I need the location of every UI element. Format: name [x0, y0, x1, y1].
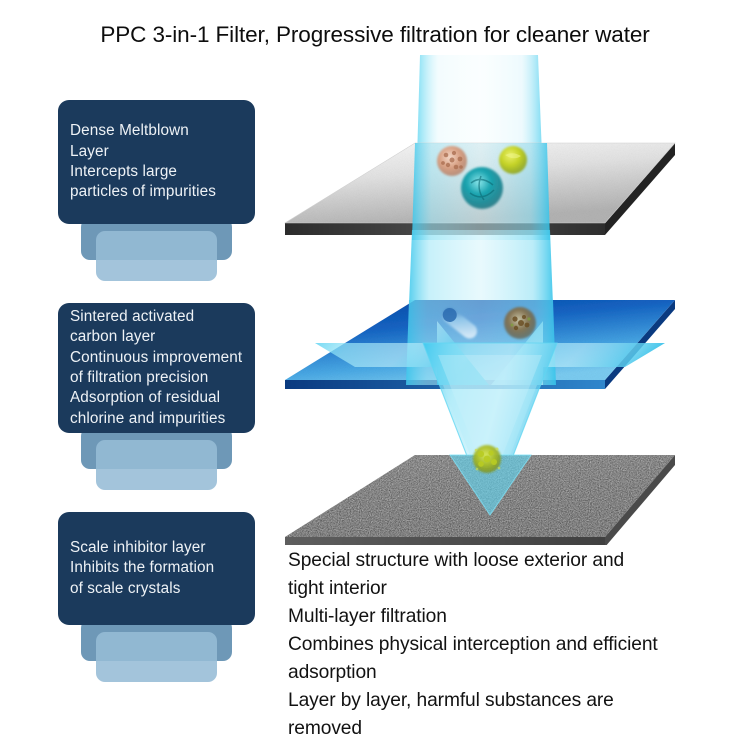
infographic-root: PPC 3-in-1 Filter, Progressive filtratio…: [0, 0, 750, 750]
particle-tan-cluster: [437, 146, 467, 176]
summary-copy: Special structure with loose exterior an…: [288, 547, 738, 743]
card-dense-meltblown-layer[interactable]: Dense Meltblown Layer Intercepts large p…: [58, 100, 255, 224]
particle-olive-cluster: [473, 445, 501, 473]
filter-layer-card-column: Dense Meltblown Layer Intercepts large p…: [0, 0, 300, 750]
card-connector-1: [58, 218, 255, 286]
card-connector-3: [58, 619, 255, 687]
card-sintered-activated-carbon-layer-text: Sintered activated carbon layer Continuo…: [70, 307, 243, 430]
particle-group-layer3: [473, 445, 501, 473]
particle-brown-speck: [504, 307, 536, 339]
particle-teal-cluster: [461, 167, 503, 209]
card-scale-inhibitor-layer-text: Scale inhibitor layer Inhibits the forma…: [70, 538, 243, 599]
water-stream-mid: [409, 230, 553, 305]
card-scale-inhibitor-layer[interactable]: Scale inhibitor layer Inhibits the forma…: [58, 512, 255, 625]
card-sintered-activated-carbon-layer[interactable]: Sintered activated carbon layer Continuo…: [58, 303, 255, 433]
particle-yellow-green: [499, 146, 527, 174]
card-dense-meltblown-layer-text: Dense Meltblown Layer Intercepts large p…: [70, 121, 243, 203]
connector-lower-block: [96, 440, 217, 490]
filtration-diagram: [275, 55, 745, 545]
connector-lower-block: [96, 231, 217, 281]
connector-lower-block: [96, 632, 217, 682]
card-connector-2: [58, 427, 255, 495]
